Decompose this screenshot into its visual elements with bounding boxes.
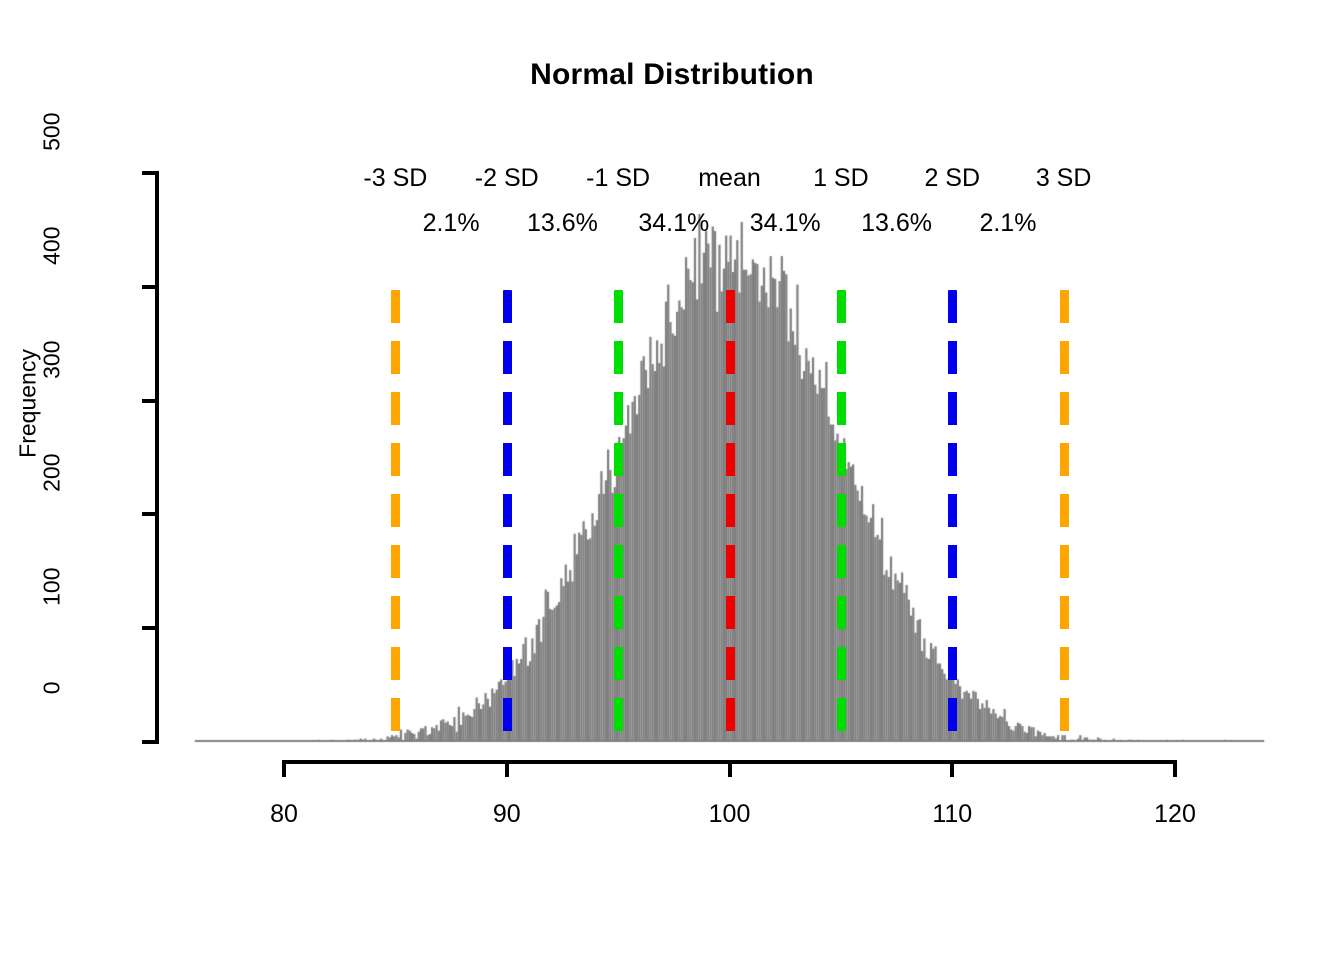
- sd-line-3-sd: [391, 290, 400, 745]
- sd-line-2-sd: [503, 290, 512, 745]
- sd-line-2-sd: [948, 290, 957, 745]
- sd-line-3-sd: [1060, 290, 1069, 745]
- percentage-label: 2.1%: [918, 209, 1098, 238]
- chart-canvas: Normal Distribution Frequency 0100200300…: [0, 0, 1344, 960]
- sd-line-1-sd: [837, 290, 846, 745]
- sd-line-mean: [726, 290, 735, 745]
- sd-label: 3 SD: [974, 164, 1154, 193]
- histogram-bars: [0, 0, 1344, 960]
- sd-line-1-sd: [614, 290, 623, 745]
